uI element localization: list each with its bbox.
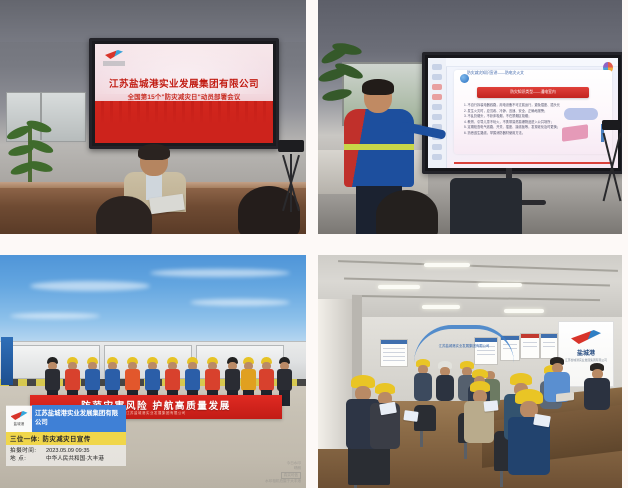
attendee: [584, 363, 610, 409]
corner-line-3: 真实可信: [281, 472, 301, 479]
attendee: [414, 359, 432, 401]
corner-line-2: 晴朗: [265, 466, 301, 471]
yancheng-port-logo-icon: [103, 50, 125, 68]
audience-head-left: [96, 196, 152, 234]
upper-wall: [0, 0, 306, 42]
slide-skyline-graphic: [95, 101, 273, 143]
corner-watermark: 今日水印 晴朗 真实可信 水印相机拍摄于大丰港: [265, 461, 301, 484]
camera-tripod: [276, 140, 306, 234]
watermark-theme-row: 三位一体: 防灾减灾日宣传: [6, 432, 126, 445]
blue-sign-post: [1, 337, 13, 385]
slide-thumbnail-rail: [428, 58, 447, 168]
list-item: 1. 不自行拆装电器线路，用电设备不可过载运行，避免插座、插头长时间发热引发火灾…: [464, 103, 560, 109]
list-item: 6. 熟悉逃生路线，掌握消防器材使用方法。: [464, 131, 560, 137]
handout-paper: [484, 400, 499, 411]
slide-toolbar: [446, 58, 618, 67]
arch-text: 江苏盐城港实业发展集团有限公司: [414, 343, 514, 348]
photo-top-left: 江苏盐城港实业发展集团有限公司 全国第15个"防灾减灾日"动员部署会议 防范灾害…: [0, 0, 306, 234]
presentation-screen: 防灾减灾知识宣讲——防电灾火文 防灾知识类型——通电室内 1. 不自行拆装电器线…: [422, 52, 622, 174]
slide-subtitle: 全国第15个"防灾减灾日"动员部署会议: [95, 92, 273, 101]
slide-content: 江苏盐城港实业发展集团有限公司 全国第15个"防灾减灾日"动员部署会议 防范灾害…: [95, 44, 273, 143]
slide-bullet-list: 1. 不自行拆装电器线路，用电设备不可过载运行，避免插座、插头长时间发热引发火灾…: [464, 103, 560, 146]
slide-title: 江苏盐城港实业发展集团有限公司: [95, 76, 273, 90]
photo-bottom-right: 江苏盐城港实业发展集团有限公司 盐城港 江苏盐城港实业发展集团有限公司: [318, 255, 622, 488]
slide-card: 防灾减灾知识宣讲——防电灾火文 防灾知识类型——通电室内 1. 不自行拆装电器线…: [454, 70, 612, 154]
slide-footer-bar: [454, 162, 612, 164]
attendee: [370, 383, 400, 449]
chair: [450, 178, 522, 234]
slide-content: 防灾减灾知识宣讲——防电灾火文 防灾知识类型——通电室内 1. 不自行拆装电器线…: [428, 58, 618, 168]
watermark-meta-rows: 拍摄时间: 2023.05.09 09:35 地 点: 中华人民共和国·大丰港: [6, 445, 126, 466]
watermark-header-row: 盐城港 江苏盐城港实业发展集团有限公司: [6, 405, 126, 432]
company-logo-icon: [571, 330, 601, 344]
photo-collage: 江苏盐城港实业发展集团有限公司 全国第15个"防灾减灾日"动员部署会议 防范灾害…: [0, 0, 628, 488]
wall-board: [540, 333, 558, 359]
time-label: 拍摄时间:: [10, 447, 46, 455]
corner-line-4: 水印相机拍摄于大丰港: [265, 479, 301, 484]
watermark-place-row: 地 点: 中华人民共和国·大丰港: [10, 455, 122, 463]
logo-text: 盐城港: [14, 421, 25, 426]
attendee: [464, 381, 494, 443]
attendee-foreground: [508, 389, 550, 475]
time-value: 2023.05.09 09:35: [46, 447, 122, 455]
banner-title: 盐城港: [559, 348, 613, 357]
place-label: 地 点:: [10, 455, 46, 463]
wall-board: [380, 339, 408, 367]
led-screen: 江苏盐城港实业发展集团有限公司 全国第15个"防灾减灾日"动员部署会议 防范灾害…: [89, 38, 279, 149]
theme-value: 防灾减灾日宣传: [42, 436, 90, 443]
slide-ribbon-title: 防灾知识类型——通电室内: [477, 87, 589, 98]
place-value: 中华人民共和国·大丰港: [46, 455, 122, 463]
handout-paper: [403, 410, 418, 422]
wall-board: [520, 333, 540, 359]
photo-top-right: 防灾减灾知识宣讲——防电灾火文 防灾知识类型——通电室内 1. 不自行拆装电器线…: [318, 0, 622, 234]
attendee: [436, 361, 454, 401]
slide-header-text: 防灾减灾知识宣讲——防电灾火文: [467, 71, 524, 76]
camera-tripod: [600, 120, 622, 234]
photo-bottom-left: 防范灾害风险 护航高质量发展 江苏盐城港实业发展集团有限公司 盐城港 江苏盐城港…: [0, 255, 306, 488]
theme-label: 三位一体:: [10, 436, 40, 443]
photo-watermark-card: 盐城港 江苏盐城港实业发展集团有限公司 三位一体: 防灾减灾日宣传 拍摄时间: …: [6, 405, 126, 466]
watermark-time-row: 拍摄时间: 2023.05.09 09:35: [10, 447, 122, 455]
company-logo-icon: 盐城港: [6, 406, 32, 432]
watermark-company-name: 江苏盐城港实业发展集团有限公司: [32, 405, 126, 432]
audience-head: [376, 190, 438, 234]
